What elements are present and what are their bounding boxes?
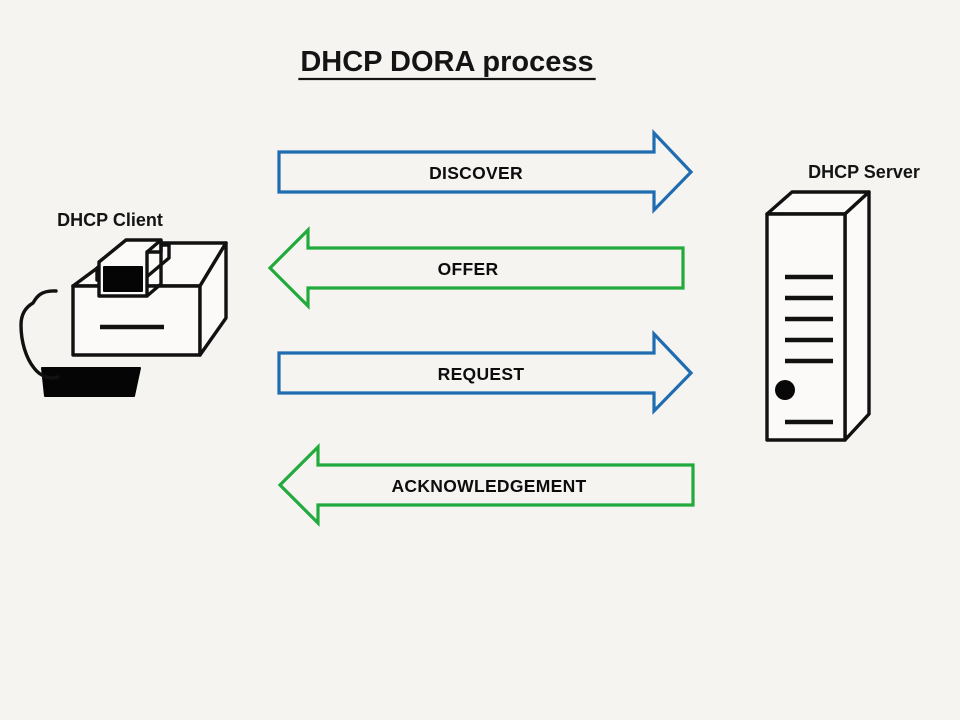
message-arrow-offer[interactable]: OFFER bbox=[270, 230, 683, 306]
diagram-canvas: DHCP DORA process DHCP Client bbox=[0, 0, 960, 720]
server-side-face bbox=[845, 192, 869, 440]
request-arrow-label: REQUEST bbox=[438, 364, 525, 384]
computer-base-shadow bbox=[42, 368, 140, 396]
acknowledgement-arrow-label: ACKNOWLEDGEMENT bbox=[391, 476, 586, 496]
server-front-face bbox=[767, 214, 845, 440]
dhcp-server-label: DHCP Server bbox=[808, 162, 920, 182]
dhcp-client-node[interactable]: DHCP Client bbox=[21, 210, 226, 396]
monitor-screen-inner bbox=[104, 267, 142, 291]
dhcp-dora-diagram: DHCP DORA process DHCP Client bbox=[0, 0, 960, 720]
desktop-computer-icon bbox=[21, 240, 226, 396]
dhcp-client-label: DHCP Client bbox=[57, 210, 163, 230]
server-tower-icon bbox=[767, 192, 869, 440]
message-arrow-request[interactable]: REQUEST bbox=[279, 334, 691, 411]
discover-arrow-label: DISCOVER bbox=[429, 163, 523, 183]
offer-arrow-label: OFFER bbox=[438, 259, 499, 279]
message-arrow-discover[interactable]: DISCOVER bbox=[279, 133, 691, 210]
page-title: DHCP DORA process bbox=[300, 46, 593, 78]
computer-cable-icon bbox=[21, 291, 58, 378]
message-arrow-acknowledgement[interactable]: ACKNOWLEDGEMENT bbox=[280, 447, 693, 523]
server-power-button-icon bbox=[775, 380, 795, 400]
dhcp-server-node[interactable]: DHCP Server bbox=[767, 162, 920, 440]
